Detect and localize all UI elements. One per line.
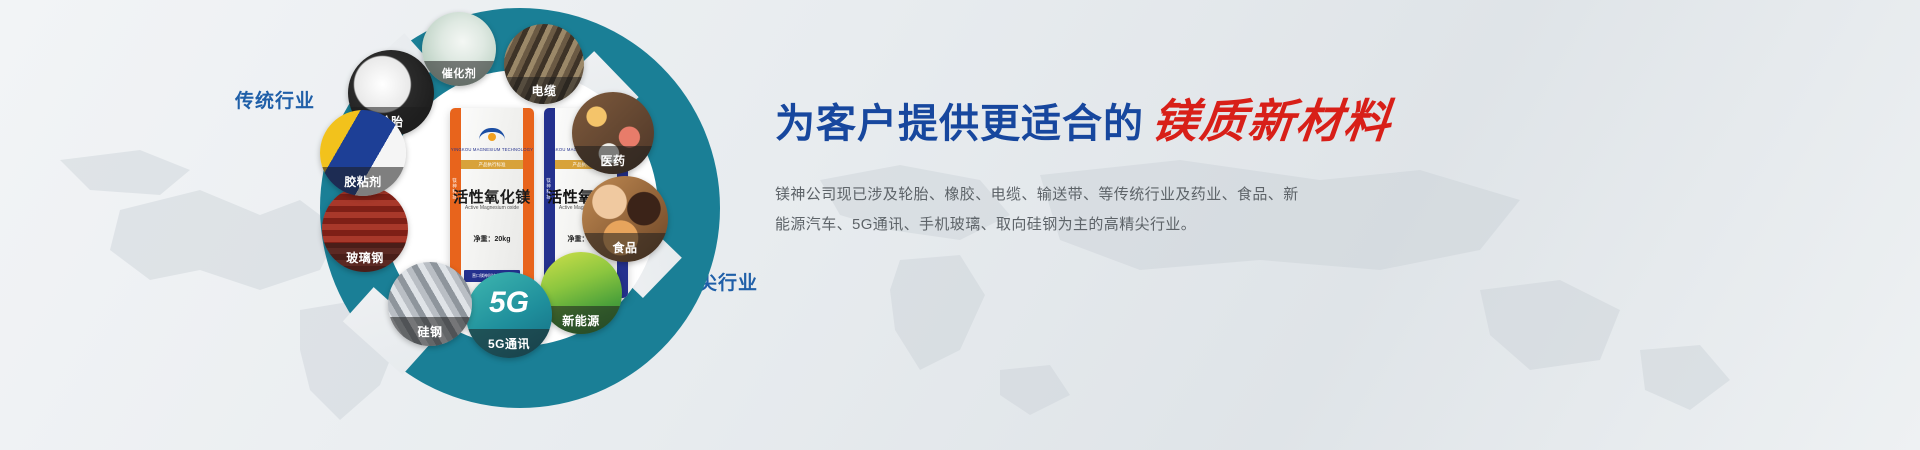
bubble-label: 玻璃钢 xyxy=(322,243,408,272)
bubble-label: 医药 xyxy=(572,146,654,174)
bag-product-name: 活性氧化镁 xyxy=(450,186,534,207)
headline: 为客户提供更适合的 镁质新材料 xyxy=(775,98,1535,144)
headline-primary: 为客户提供更适合的 xyxy=(775,104,1144,144)
headline-accent: 镁质新材料 xyxy=(1150,98,1395,144)
bubble-5g[interactable]: 5G 5G通讯 xyxy=(466,272,552,358)
hero-copy: 为客户提供更适合的 镁质新材料 镁神公司现已涉及轮胎、橡胶、电缆、输送带、等传统… xyxy=(775,98,1535,240)
bag-band: 产品执行标准 xyxy=(461,160,523,169)
bubble-label: 催化剂 xyxy=(422,61,496,86)
bag-weight: 净重：20kg xyxy=(450,234,534,244)
bubble-silicon-steel[interactable]: 硅钢 xyxy=(388,262,472,346)
bubble-catalyst[interactable]: 催化剂 xyxy=(422,12,496,86)
bubble-label: 硅钢 xyxy=(388,317,472,346)
bubble-frp[interactable]: 玻璃钢 xyxy=(322,186,408,272)
industry-infographic: 传统行业 高精尖行业 镁神科技 YINGKOU MAGNESIUM TECHNO… xyxy=(300,0,770,450)
bubble-food[interactable]: 食品 xyxy=(582,176,668,262)
hero-banner: 传统行业 高精尖行业 镁神科技 YINGKOU MAGNESIUM TECHNO… xyxy=(0,0,1920,450)
bubble-label: 新能源 xyxy=(540,306,622,334)
label-traditional-industries: 传统行业 xyxy=(235,86,315,113)
bubble-label: 胶粘剂 xyxy=(320,167,406,196)
bubble-new-energy[interactable]: 新能源 xyxy=(540,252,622,334)
bubble-medicine[interactable]: 医药 xyxy=(572,92,654,174)
bubble-label: 5G通讯 xyxy=(466,329,552,358)
bag-brandline: YINGKOU MAGNESIUM TECHNOLOGY xyxy=(451,147,533,152)
bag-band-text: 产品执行标准 xyxy=(461,160,523,169)
brand-logo-icon xyxy=(477,126,507,144)
bubble-adhesive[interactable]: 胶粘剂 xyxy=(320,110,406,196)
bag-product-name-en: Active Magnesium oxide xyxy=(450,205,534,211)
hero-paragraph: 镁神公司现已涉及轮胎、橡胶、电缆、输送带、等传统行业及药业、食品、新能源汽车、5… xyxy=(775,180,1305,240)
